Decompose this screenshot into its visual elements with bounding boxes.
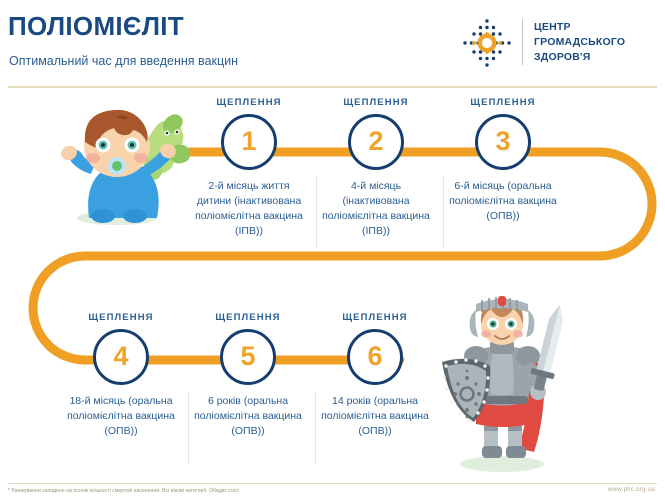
baby-with-dragon-toy-illustration bbox=[55, 100, 191, 226]
step-1-badge[interactable]: 1 bbox=[221, 114, 277, 170]
footer-divider bbox=[8, 483, 657, 484]
step-5-number: 5 bbox=[240, 343, 255, 370]
step-4-number: 4 bbox=[113, 343, 128, 370]
step-2-badge[interactable]: 2 bbox=[348, 114, 404, 170]
step-1-description: 2-й місяць життя дитини (інактивована по… bbox=[190, 179, 308, 240]
logo-text-line-2: ГРОМАДСЬКОГО bbox=[534, 35, 625, 50]
page-title: ПОЛІОМІЄЛІТ bbox=[8, 13, 184, 39]
step-5-description: 6 років (оральна поліомієлітна вакцина (… bbox=[189, 394, 307, 440]
step-1-kicker: ЩЕПЛЕННЯ bbox=[190, 98, 308, 108]
step-6-number: 6 bbox=[367, 343, 382, 370]
step-5-kicker: ЩЕПЛЕННЯ bbox=[189, 313, 307, 323]
step-5: ЩЕПЛЕННЯ 5 6 років (оральна поліомієлітн… bbox=[189, 313, 307, 439]
step-2-number: 2 bbox=[368, 128, 383, 155]
knight-with-sword-and-shield-illustration bbox=[432, 296, 572, 476]
step-3-description: 6-й місяць (оральна поліомієлітна вакцин… bbox=[444, 179, 562, 225]
step-1: ЩЕПЛЕННЯ 1 2-й місяць життя дитини (інак… bbox=[190, 98, 308, 239]
step-4-kicker: ЩЕПЛЕННЯ bbox=[62, 313, 180, 323]
phc-dot-circle-icon bbox=[460, 16, 514, 70]
header: ПОЛІОМІЄЛІТ Оптимальний час для введення… bbox=[0, 0, 665, 88]
step-1-number: 1 bbox=[241, 128, 256, 155]
step-4: ЩЕПЛЕННЯ 4 18-й місяць (оральна поліоміє… bbox=[62, 313, 180, 439]
step-6: ЩЕПЛЕННЯ 6 14 років (оральна поліомієліт… bbox=[316, 313, 434, 439]
step-6-kicker: ЩЕПЛЕННЯ bbox=[316, 313, 434, 323]
step-6-description: 14 років (оральна поліомієлітна вакцина … bbox=[316, 394, 434, 440]
step-3: ЩЕПЛЕННЯ 3 6-й місяць (оральна поліомієл… bbox=[444, 98, 562, 224]
step-5-badge[interactable]: 5 bbox=[220, 329, 276, 385]
step-2-description: 4-й місяць (інактивована поліомієлітна в… bbox=[317, 179, 435, 240]
logo-divider bbox=[522, 19, 523, 65]
step-2-kicker: ЩЕПЛЕННЯ bbox=[317, 98, 435, 108]
step-3-badge[interactable]: 3 bbox=[475, 114, 531, 170]
page-subtitle: Оптимальний час для введення вакцин bbox=[9, 54, 238, 69]
step-4-badge[interactable]: 4 bbox=[93, 329, 149, 385]
footer-url[interactable]: www.phc.org.ua bbox=[608, 487, 655, 493]
step-2: ЩЕПЛЕННЯ 2 4-й місяць (інактивована полі… bbox=[317, 98, 435, 239]
logo-text: ЦЕНТР ГРОМАДСЬКОГО ЗДОРОВ'Я bbox=[534, 20, 625, 65]
header-divider bbox=[8, 86, 657, 88]
infographic-page: ПОЛІОМІЄЛІТ Оптимальний час для введення… bbox=[0, 0, 665, 499]
step-6-badge[interactable]: 6 bbox=[347, 329, 403, 385]
step-4-description: 18-й місяць (оральна поліомієлітна вакци… bbox=[62, 394, 180, 440]
logo-text-line-1: ЦЕНТР bbox=[534, 20, 625, 35]
logo-text-line-3: ЗДОРОВ'Я bbox=[534, 50, 625, 65]
footnote-text: * Ранжування складене на основі кількост… bbox=[8, 488, 240, 494]
organization-logo: ЦЕНТР ГРОМАДСЬКОГО ЗДОРОВ'Я bbox=[460, 14, 655, 72]
step-3-number: 3 bbox=[495, 128, 510, 155]
step-3-kicker: ЩЕПЛЕННЯ bbox=[444, 98, 562, 108]
